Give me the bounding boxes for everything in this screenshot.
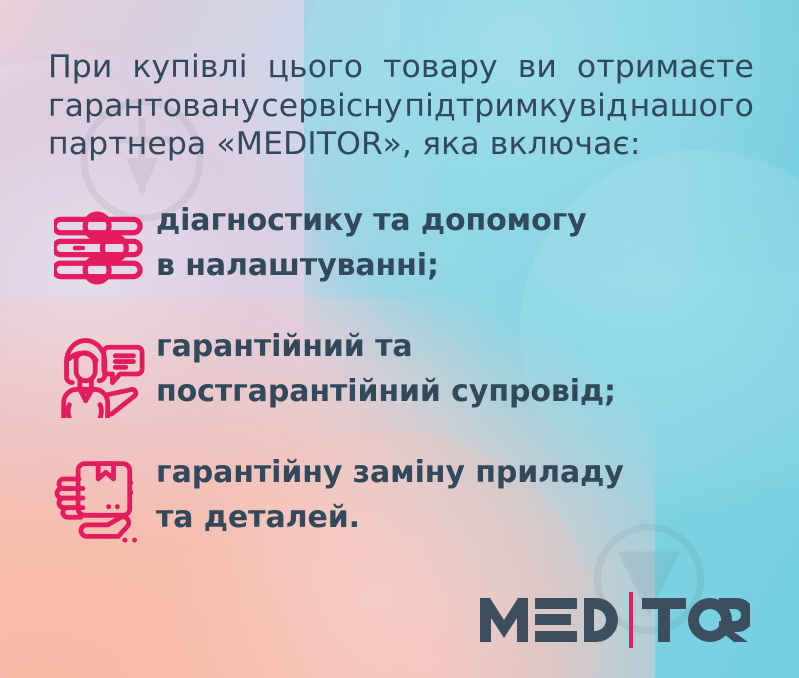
headline-word: При xyxy=(48,48,112,87)
list-item-text: гарантійний та постгарантійний супровід; xyxy=(156,322,616,414)
list-item: гарантійний та постгарантійний супровід; xyxy=(48,322,754,426)
headline-line-3: партнера «MEDITOR», яка включає: xyxy=(48,125,754,164)
benefits-list: діагностику та допомогу в налаштуванні; xyxy=(48,196,754,552)
headline-word: ви xyxy=(518,48,557,87)
list-item-line: в налаштуванні; xyxy=(156,243,587,288)
headline-line-2: гарантовану сервісну підтримку від нашог… xyxy=(48,87,754,126)
headline-word: отримаєте xyxy=(577,48,754,87)
headline-word: підтримку xyxy=(404,87,576,126)
list-item-text: гарантійну заміну приладу та деталей. xyxy=(156,448,624,540)
headline-word: цього xyxy=(268,48,364,87)
list-item-line: та деталей. xyxy=(156,495,624,540)
package-handoff-hands-icon xyxy=(48,448,156,552)
list-item: гарантійну заміну приладу та деталей. xyxy=(48,448,754,552)
list-item-line: гарантійний та xyxy=(156,324,616,369)
headline-word: від xyxy=(578,87,627,126)
headline-word: нашого xyxy=(630,87,754,126)
headline-word: сервісну xyxy=(261,87,402,126)
logo-separator-bar xyxy=(629,592,633,648)
list-item: діагностику та допомогу в налаштуванні; xyxy=(48,196,754,300)
headline-word: гарантовану xyxy=(48,87,260,126)
headline-word: товару xyxy=(383,48,498,87)
sliders-settings-icon xyxy=(48,196,156,300)
promo-headline: При купівлі цього товару ви отримаєте га… xyxy=(48,48,754,164)
list-item-line: постгарантійний супровід; xyxy=(156,369,616,414)
list-item-line: діагностику та допомогу xyxy=(156,198,587,243)
list-item-line: гарантійну заміну приладу xyxy=(156,450,624,495)
headline-word: купівлі xyxy=(132,48,247,87)
meditor-logo xyxy=(478,592,750,648)
support-agent-headset-icon xyxy=(48,322,156,426)
list-item-text: діагностику та допомогу в налаштуванні; xyxy=(156,196,587,288)
headline-line-1: При купівлі цього товару ви отримаєте xyxy=(48,48,754,87)
